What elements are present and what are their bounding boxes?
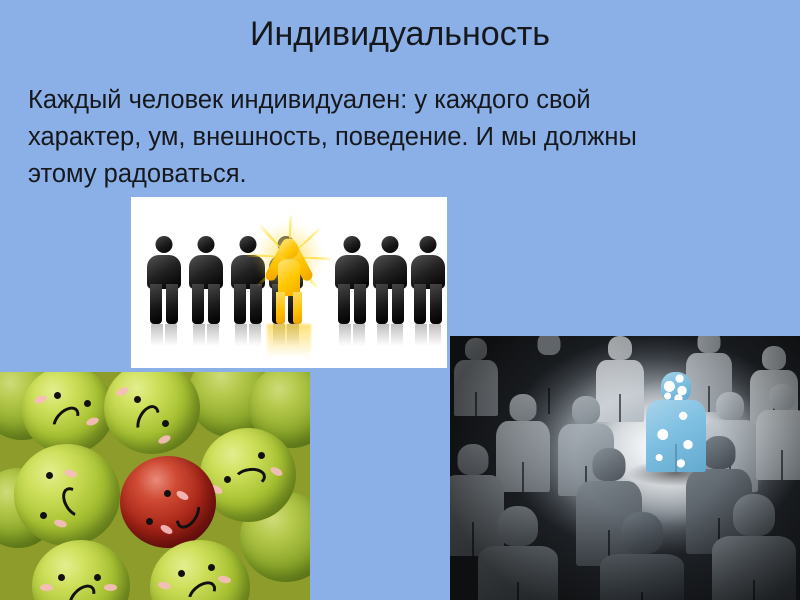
stick-figure-dark (335, 236, 369, 324)
paper-figure-grey (496, 394, 550, 492)
eye-icon (134, 396, 141, 403)
figure-leg-gap (753, 580, 755, 600)
apple-sad (32, 540, 130, 600)
figure-leg-icon (192, 284, 204, 324)
eye-icon (224, 476, 231, 483)
figure-reflection (335, 324, 369, 360)
reflection-streak (415, 324, 427, 346)
eye-icon (162, 420, 169, 427)
stick-figure-stage (131, 197, 447, 368)
apple-face-sad (104, 372, 200, 454)
reflection-streak (151, 324, 163, 346)
figure-head-icon (156, 236, 173, 253)
cheek-icon (157, 434, 172, 446)
cheek-icon (104, 584, 117, 591)
eye-icon (178, 570, 185, 577)
figure-head-icon (420, 236, 437, 253)
mouth-sad-icon (132, 401, 165, 439)
paper-figure-grey (478, 506, 558, 600)
figure-reflection (231, 324, 265, 360)
figure-head-icon (458, 444, 489, 475)
figure-head-icon (703, 436, 736, 469)
apple-face-sad (14, 444, 120, 546)
figure-leg-gap (475, 392, 477, 416)
figure-leg-icon (293, 292, 302, 324)
mouth-happy-icon (171, 495, 205, 533)
figure-reflection (411, 324, 445, 360)
paper-figure-grey (712, 494, 796, 600)
image-stick-figure-crowd (131, 197, 447, 368)
figure-head-icon (716, 392, 744, 420)
highlight-figure-reflection (267, 324, 311, 362)
apple-sad (14, 444, 120, 546)
stick-figure-dark (147, 236, 181, 324)
slide-body-text: Каждый человек индивидуален: у каждого с… (28, 82, 780, 193)
cheek-icon (157, 581, 171, 591)
figure-head-icon (198, 236, 215, 253)
cheek-icon (85, 416, 100, 427)
apple-happy-red (120, 456, 216, 548)
reflection-streak (353, 324, 365, 346)
figure-leg-gap (675, 444, 677, 472)
figure-leg-icon (376, 284, 388, 324)
reflection-streak (339, 324, 351, 346)
figure-leg-icon (166, 284, 178, 324)
stick-figure-dark (411, 236, 445, 324)
reflection-streak (193, 324, 205, 346)
figure-leg-icon (392, 284, 404, 324)
image-apples-faces (0, 372, 310, 600)
apple-face-sad (150, 540, 250, 600)
figure-head-icon (661, 372, 691, 402)
image-paper-crowd (450, 336, 800, 600)
eye-icon (58, 574, 65, 581)
figure-reflection (373, 324, 407, 360)
figure-leg-icon (208, 284, 220, 324)
apple-face-sad (32, 540, 130, 600)
figure-head-icon (572, 396, 600, 424)
paper-figure-grey (600, 512, 684, 600)
page-title: Индивидуальность (0, 12, 800, 56)
figure-body-icon (756, 410, 800, 480)
figure-leg-gap (619, 394, 621, 422)
figure-leg-icon (354, 284, 366, 324)
figure-head-icon (593, 448, 626, 481)
cheek-icon (217, 575, 231, 585)
cheek-icon (159, 523, 174, 536)
eye-icon (84, 400, 91, 407)
mouth-sad-icon (57, 483, 90, 521)
reflection-streak (207, 324, 219, 346)
highlight-figure-yellow (259, 220, 319, 324)
mouth-sad-icon (233, 466, 267, 490)
figure-head-icon (538, 336, 561, 355)
figure-leg-icon (150, 284, 162, 324)
figure-leg-icon (414, 284, 426, 324)
reflection-streak (235, 324, 247, 346)
figure-leg-gap (641, 592, 643, 600)
eye-icon (258, 452, 265, 459)
figure-head-icon (382, 236, 399, 253)
figure-head-icon (280, 240, 299, 259)
paper-figure-blue-clouds (646, 372, 706, 472)
figure-reflection (147, 324, 181, 360)
reflection-streak (165, 324, 177, 346)
figure-head-icon (344, 236, 361, 253)
figure-head-icon (769, 384, 795, 410)
figure-leg-icon (276, 292, 285, 324)
figure-head-icon (621, 512, 663, 554)
eye-icon (54, 392, 61, 399)
stick-figure-dark (373, 236, 407, 324)
paper-crowd-stage (450, 336, 800, 600)
figure-leg-icon (234, 284, 246, 324)
mouth-sad-icon (183, 576, 221, 600)
eye-icon (146, 518, 153, 525)
apple-bed (0, 372, 310, 600)
paper-figure-grey (454, 338, 498, 416)
mouth-sad-icon (48, 402, 85, 439)
stick-figure-dark (189, 236, 223, 324)
eye-icon (94, 574, 101, 581)
reflection-streak (429, 324, 441, 346)
figure-head-icon (608, 336, 632, 360)
eye-icon (208, 564, 215, 571)
mouth-sad-icon (64, 580, 101, 600)
body-line-3: этому радоваться. (28, 156, 780, 193)
reflection-streak (249, 324, 261, 346)
figure-torso-icon (278, 260, 300, 296)
cheek-icon (115, 386, 130, 398)
figure-leg-gap (781, 450, 783, 480)
figure-head-icon (762, 346, 786, 370)
cheek-icon (33, 394, 48, 405)
eye-icon (164, 490, 171, 497)
figure-head-icon (510, 394, 537, 421)
eye-icon (40, 512, 47, 519)
body-line-1: Каждый человек индивидуален: у каждого с… (28, 82, 780, 119)
apple-sad (22, 372, 114, 454)
cheek-icon (40, 584, 53, 591)
figure-head-icon (698, 336, 721, 353)
eye-icon (46, 472, 53, 479)
apple-face-happy (120, 456, 216, 548)
reflection-streak (377, 324, 389, 346)
figure-leg-icon (430, 284, 442, 324)
body-line-2: характер, ум, внешность, поведение. И мы… (28, 119, 780, 156)
figure-head-icon (498, 506, 538, 546)
presentation-slide: Индивидуальность Каждый человек индивиду… (0, 0, 800, 600)
figure-leg-gap (517, 582, 519, 600)
figure-leg-gap (472, 522, 474, 556)
paper-figure-grey (756, 384, 800, 480)
apple-sad (104, 372, 200, 454)
apple-sad (150, 540, 250, 600)
figure-leg-gap (522, 462, 524, 492)
figure-head-icon (733, 494, 775, 536)
reflection-streak (391, 324, 403, 346)
apple-face-sad (22, 372, 114, 454)
cheek-icon (63, 468, 77, 478)
figure-head-icon (465, 338, 487, 360)
figure-leg-icon (338, 284, 350, 324)
cheek-icon (53, 518, 67, 528)
cheek-icon (269, 465, 284, 477)
figure-reflection (189, 324, 223, 360)
